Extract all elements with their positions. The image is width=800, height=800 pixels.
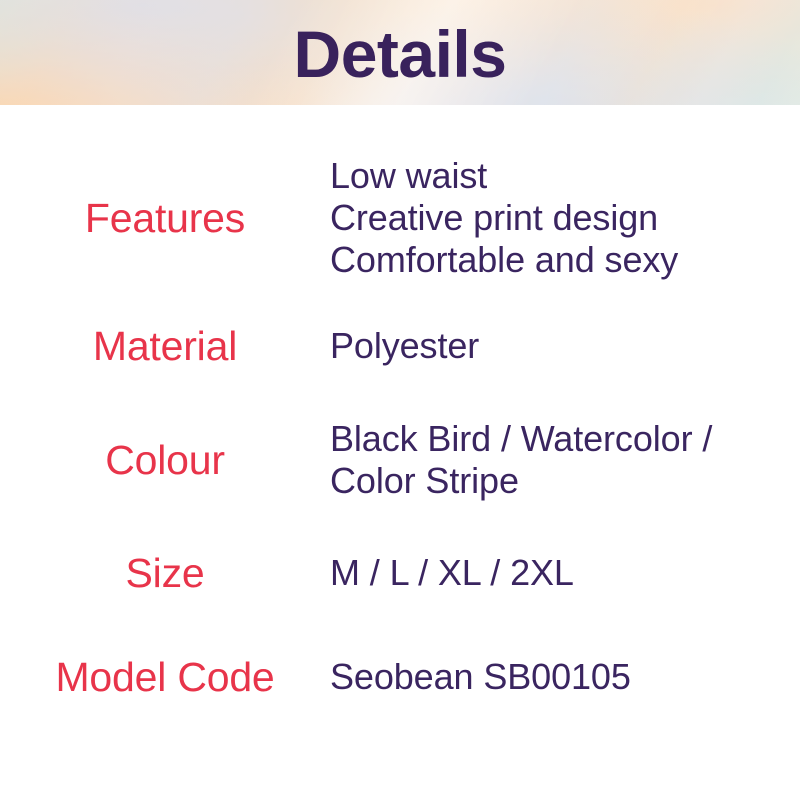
page-title: Details: [0, 10, 800, 98]
spec-value-size: M / L / XL / 2XL: [330, 552, 800, 594]
spec-table: Features Low waist Creative print design…: [0, 105, 800, 729]
spec-row-colour: Colour Black Bird / Watercolor / Color S…: [0, 399, 800, 521]
spec-row-size: Size M / L / XL / 2XL: [0, 521, 800, 625]
spec-label-colour: Colour: [0, 436, 330, 484]
spec-value-line: Creative print design: [330, 197, 774, 239]
spec-value-material: Polyester: [330, 325, 800, 367]
spec-label-material: Material: [0, 322, 330, 370]
spec-value-line: Polyester: [330, 325, 774, 367]
spec-value-colour: Black Bird / Watercolor / Color Stripe: [330, 418, 800, 502]
spec-value-line: Low waist: [330, 155, 774, 197]
spec-label-model-code: Model Code: [0, 653, 330, 701]
spec-label-features: Features: [0, 194, 330, 242]
spec-value-line: Seobean SB00105: [330, 656, 774, 698]
spec-label-size: Size: [0, 549, 330, 597]
spec-value-features: Low waist Creative print design Comforta…: [330, 155, 800, 281]
spec-value-model-code: Seobean SB00105: [330, 656, 800, 698]
spec-value-line: Comfortable and sexy: [330, 239, 774, 281]
header-banner: Details: [0, 0, 800, 105]
details-page: Details Features Low waist Creative prin…: [0, 0, 800, 800]
spec-row-material: Material Polyester: [0, 293, 800, 399]
spec-row-features: Features Low waist Creative print design…: [0, 143, 800, 293]
spec-value-line: Black Bird / Watercolor / Color Stripe: [330, 418, 774, 502]
spec-row-model-code: Model Code Seobean SB00105: [0, 625, 800, 729]
spec-value-line: M / L / XL / 2XL: [330, 552, 774, 594]
